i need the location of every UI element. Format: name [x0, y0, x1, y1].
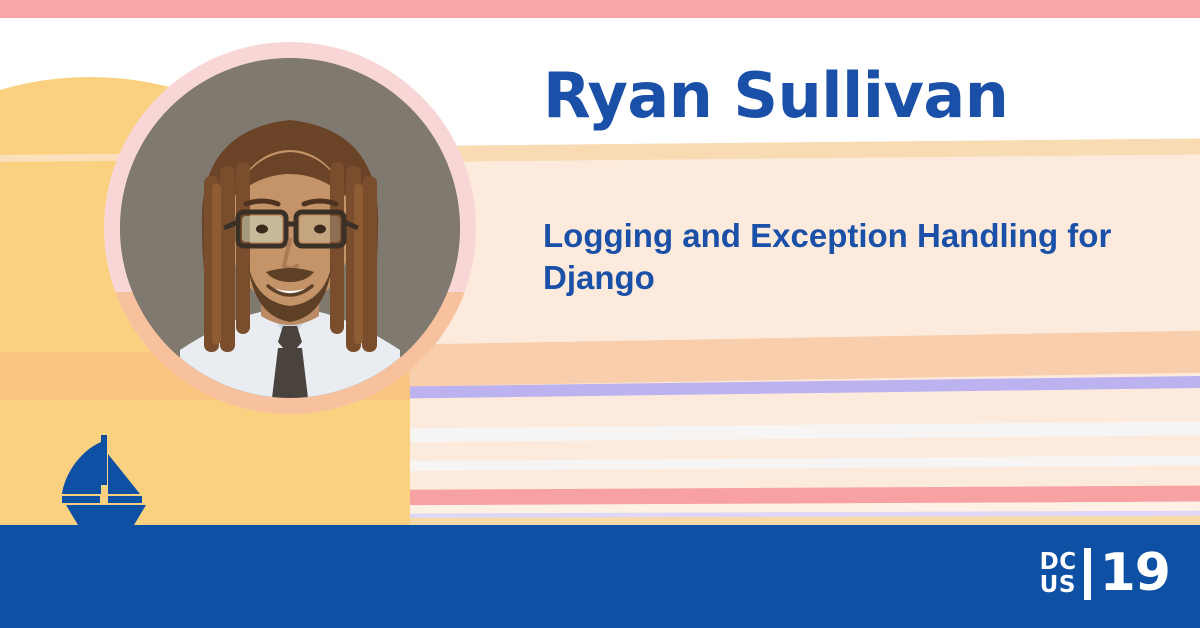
- top-pink-bar: [0, 0, 1200, 18]
- logo-line-us: US: [1040, 574, 1077, 597]
- sailboat-icon: [48, 432, 158, 527]
- talk-title: Logging and Exception Handling for Djang…: [543, 215, 1163, 299]
- logo-divider: [1084, 548, 1091, 600]
- event-logo: DC US 19: [1040, 548, 1170, 600]
- logo-line-dc: DC: [1040, 551, 1077, 574]
- speaker-announcement-card: Ryan Sullivan Logging and Exception Hand…: [0, 0, 1200, 628]
- logo-year: 19: [1100, 550, 1170, 598]
- logo-dcus-text: DC US: [1040, 551, 1077, 596]
- bottom-blue-bar: [0, 525, 1200, 628]
- speaker-name: Ryan Sullivan: [543, 63, 1008, 128]
- avatar: [104, 42, 476, 414]
- speaker-photo: [120, 58, 460, 398]
